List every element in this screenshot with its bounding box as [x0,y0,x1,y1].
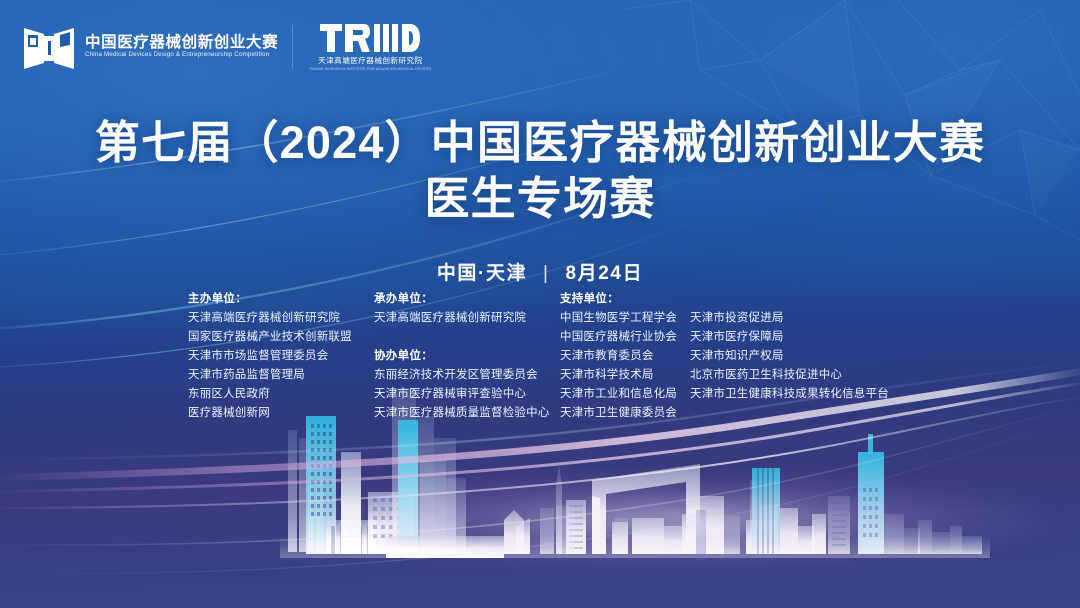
logo-primary-cn: 中国医疗器械创新创业大赛 [85,35,278,51]
org-item: 中国医疗器械行业协会 [560,328,690,347]
org-item: 医疗器械创新网 [188,404,374,423]
org-spacer [374,328,560,347]
org-item: 天津市工业和信息化局 [560,385,690,404]
org-item: 天津市医疗器械质量监督检验中心 [374,404,560,423]
org-column-supporter-left: 支持单位： 中国生物医学工程学会 中国医疗器械行业协会 天津市教育委员会 天津市… [560,290,690,423]
org-item: 天津市卫生健康委员会 [560,404,690,423]
org-column-organizer: 承办单位： 天津高端医疗器械创新研究院 协办单位： 东丽经济技术开发区管理委员会… [374,290,560,423]
org-heading-host: 主办单位： [188,290,374,309]
title-line-1: 第七届（2024）中国医疗器械创新创业大赛 [0,118,1080,168]
org-item: 天津市知识产权局 [690,347,900,366]
org-heading-organizer: 承办单位： [374,290,560,309]
org-item: 东丽经济技术开发区管理委员会 [374,366,560,385]
trimd-wordmark-icon [320,22,420,54]
title-line-2: 医生专场赛 [0,174,1080,224]
org-item: 天津市投资促进局 [690,309,900,328]
event-date-line: 中国·天津 | 8月24日 [0,258,1080,285]
logo-primary-text: 中国医疗器械创新创业大赛 China Medical Devices Desig… [85,35,278,59]
logo-divider [292,25,293,69]
logo-primary-en: China Medical Devices Design & Entrepren… [85,52,278,59]
org-item: 天津市医疗器械审评查验中心 [374,385,560,404]
event-date: 8月24日 [565,263,643,284]
open-door-logo-icon [22,23,76,70]
org-item: 天津市卫生健康科技成果转化信息平台 [690,385,900,404]
org-item: 天津高端医疗器械创新研究院 [374,309,560,328]
org-column-host: 主办单位： 天津高端医疗器械创新研究院 国家医疗器械产业技术创新联盟 天津市市场… [188,290,374,423]
logo-secondary-en: TIANJIN RESEARCH INSTITUTE FOR ADVANCED … [309,68,431,72]
org-item: 天津市药品监督管理局 [188,366,374,385]
date-separator: | [534,263,559,285]
org-item: 天津高端医疗器械创新研究院 [188,309,374,328]
organizations-block: 主办单位： 天津高端医疗器械创新研究院 国家医疗器械产业技术创新联盟 天津市市场… [188,290,904,423]
event-location: 中国·天津 [437,263,527,284]
org-column-supporter-right: 天津市投资促进局 天津市医疗保障局 天津市知识产权局 北京市医药卫生科技促进中心… [690,290,900,404]
ground-glow [180,446,1080,566]
org-item: 天津市教育委员会 [560,347,690,366]
org-item: 东丽区人民政府 [188,385,374,404]
header-logos: 中国医疗器械创新创业大赛 China Medical Devices Desig… [22,22,432,71]
logo-primary[interactable]: 中国医疗器械创新创业大赛 China Medical Devices Desig… [22,23,278,70]
org-item: 天津市医疗保障局 [690,328,900,347]
org-heading-supporter: 支持单位： [560,290,690,309]
org-item: 北京市医药卫生科技促进中心 [690,366,900,385]
org-item: 中国生物医学工程学会 [560,309,690,328]
logo-secondary-cn: 天津高端医疗器械创新研究院 [318,57,423,65]
poster-title: 第七届（2024）中国医疗器械创新创业大赛 医生专场赛 [0,118,1080,225]
poster-canvas: 中国医疗器械创新创业大赛 China Medical Devices Desig… [0,0,1080,608]
org-item: 国家医疗器械产业技术创新联盟 [188,328,374,347]
org-heading-coorganizer: 协办单位： [374,347,560,366]
org-item: 天津市科学技术局 [560,366,690,385]
org-spacer [690,290,900,309]
org-item: 天津市市场监督管理委员会 [188,347,374,366]
logo-secondary[interactable]: 天津高端医疗器械创新研究院 TIANJIN RESEARCH INSTITUTE… [309,22,431,71]
